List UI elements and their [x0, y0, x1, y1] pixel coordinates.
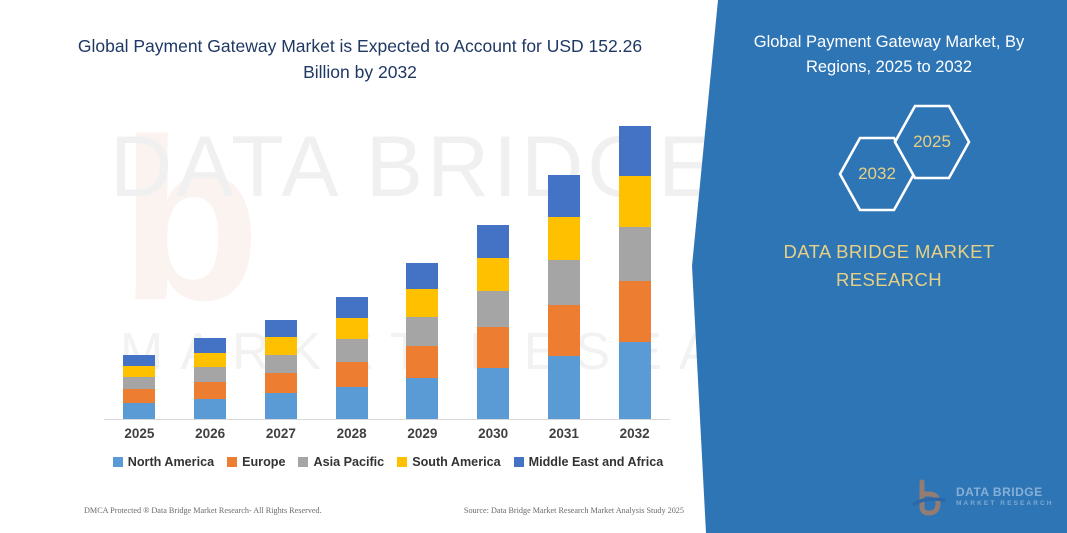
- bar-segment: [548, 305, 580, 356]
- bar-segment: [265, 337, 297, 354]
- bar-segment: [406, 317, 438, 346]
- bar-segment: [194, 353, 226, 367]
- bar-segment: [548, 356, 580, 419]
- bar-segment: [194, 367, 226, 382]
- legend-item[interactable]: North America: [113, 455, 214, 469]
- bar-column: [317, 120, 387, 419]
- bar-segment: [477, 258, 509, 292]
- x-axis-label: 2032: [600, 426, 670, 441]
- bar-segment: [619, 281, 651, 342]
- bar-segment: [477, 291, 509, 327]
- bar-segment: [194, 399, 226, 419]
- footer-copyright: DMCA Protected ® Data Bridge Market Rese…: [84, 506, 322, 515]
- x-axis-label: 2029: [387, 426, 457, 441]
- bar-column: [175, 120, 245, 419]
- bar-segment: [619, 342, 651, 419]
- bar-segment: [194, 338, 226, 352]
- stacked-bar: [336, 297, 368, 419]
- bar-segment: [406, 346, 438, 379]
- stacked-bar: [477, 225, 509, 419]
- hexagon-badges: 2032 2025: [796, 100, 1066, 215]
- bar-segment: [123, 403, 155, 419]
- stacked-bar: [619, 126, 651, 419]
- legend-label: Asia Pacific: [313, 455, 384, 469]
- infographic-root: b DATA BRIDGE MARKET RESEARCH Global Pay…: [0, 0, 1067, 533]
- stacked-bar-chart: [104, 120, 670, 419]
- x-axis-label: 2028: [317, 426, 387, 441]
- brand-panel: Global Payment Gateway Market, By Region…: [686, 0, 1067, 533]
- bar-column: [104, 120, 174, 419]
- bar-segment: [477, 327, 509, 368]
- legend-swatch: [113, 457, 123, 467]
- legend-swatch: [514, 457, 524, 467]
- bar-segment: [406, 378, 438, 419]
- chart-legend: North AmericaEuropeAsia PacificSouth Ame…: [98, 455, 678, 469]
- legend-item[interactable]: South America: [397, 455, 500, 469]
- bar-segment: [123, 377, 155, 389]
- brand-name: DATA BRIDGE MARKET RESEARCH: [734, 238, 1044, 294]
- hexagon-front-label: 2025: [891, 102, 973, 182]
- corner-logo-text: DATA BRIDGE MARKET RESEARCH: [956, 486, 1054, 507]
- bar-segment: [123, 389, 155, 402]
- bar-column: [600, 120, 670, 419]
- x-axis-line: [104, 419, 670, 420]
- x-axis-label: 2026: [175, 426, 245, 441]
- legend-label: Middle East and Africa: [529, 455, 664, 469]
- stacked-bar: [548, 175, 580, 419]
- footer: DMCA Protected ® Data Bridge Market Rese…: [84, 506, 684, 515]
- bar-segment: [619, 227, 651, 281]
- legend-swatch: [397, 457, 407, 467]
- legend-item[interactable]: Middle East and Africa: [514, 455, 664, 469]
- corner-logo: DATA BRIDGE MARKET RESEARCH: [910, 474, 1060, 520]
- bar-segment: [336, 387, 368, 419]
- legend-label: Europe: [242, 455, 285, 469]
- bar-segment: [477, 225, 509, 258]
- bar-segment: [406, 289, 438, 317]
- x-axis-labels: 20252026202720282029203020312032: [104, 426, 670, 441]
- legend-label: South America: [412, 455, 500, 469]
- data-bridge-b-logo-icon: [910, 477, 950, 517]
- bar-segment: [336, 297, 368, 318]
- legend-swatch: [298, 457, 308, 467]
- bar-segment: [619, 176, 651, 227]
- corner-logo-sub: MARKET RESEARCH: [956, 500, 1054, 507]
- bar-segment: [123, 366, 155, 377]
- bar-segment: [194, 382, 226, 398]
- bar-column: [387, 120, 457, 419]
- x-axis-label: 2025: [104, 426, 174, 441]
- x-axis-label: 2027: [246, 426, 316, 441]
- bar-segment: [477, 368, 509, 419]
- bar-segment: [265, 373, 297, 393]
- x-axis-label: 2030: [458, 426, 528, 441]
- hexagon-badge-front: 2025: [891, 102, 973, 182]
- stacked-bar: [265, 320, 297, 419]
- bar-segment: [336, 339, 368, 361]
- bar-segment: [265, 320, 297, 337]
- stacked-bar: [194, 338, 226, 419]
- x-axis-label: 2031: [529, 426, 599, 441]
- stacked-bar: [123, 355, 155, 419]
- corner-logo-main: DATA BRIDGE: [956, 486, 1054, 500]
- bar-segment: [265, 355, 297, 373]
- bar-segment: [406, 263, 438, 290]
- chart-panel: Global Payment Gateway Market is Expecte…: [0, 0, 720, 533]
- legend-item[interactable]: Europe: [227, 455, 285, 469]
- bar-segment: [123, 355, 155, 366]
- footer-source: Source: Data Bridge Market Research Mark…: [464, 506, 684, 515]
- bar-segment: [265, 393, 297, 419]
- stacked-bar: [406, 263, 438, 419]
- brand-panel-title: Global Payment Gateway Market, By Region…: [734, 30, 1044, 80]
- bar-segment: [619, 126, 651, 176]
- bar-column: [458, 120, 528, 419]
- legend-swatch: [227, 457, 237, 467]
- legend-item[interactable]: Asia Pacific: [298, 455, 384, 469]
- bar-column: [529, 120, 599, 419]
- legend-label: North America: [128, 455, 214, 469]
- bar-column: [246, 120, 316, 419]
- bar-segment: [548, 175, 580, 217]
- chart-title: Global Payment Gateway Market is Expecte…: [60, 33, 660, 85]
- bar-segment: [548, 217, 580, 260]
- bar-segment: [336, 318, 368, 339]
- bar-segment: [336, 362, 368, 388]
- bar-segment: [548, 260, 580, 305]
